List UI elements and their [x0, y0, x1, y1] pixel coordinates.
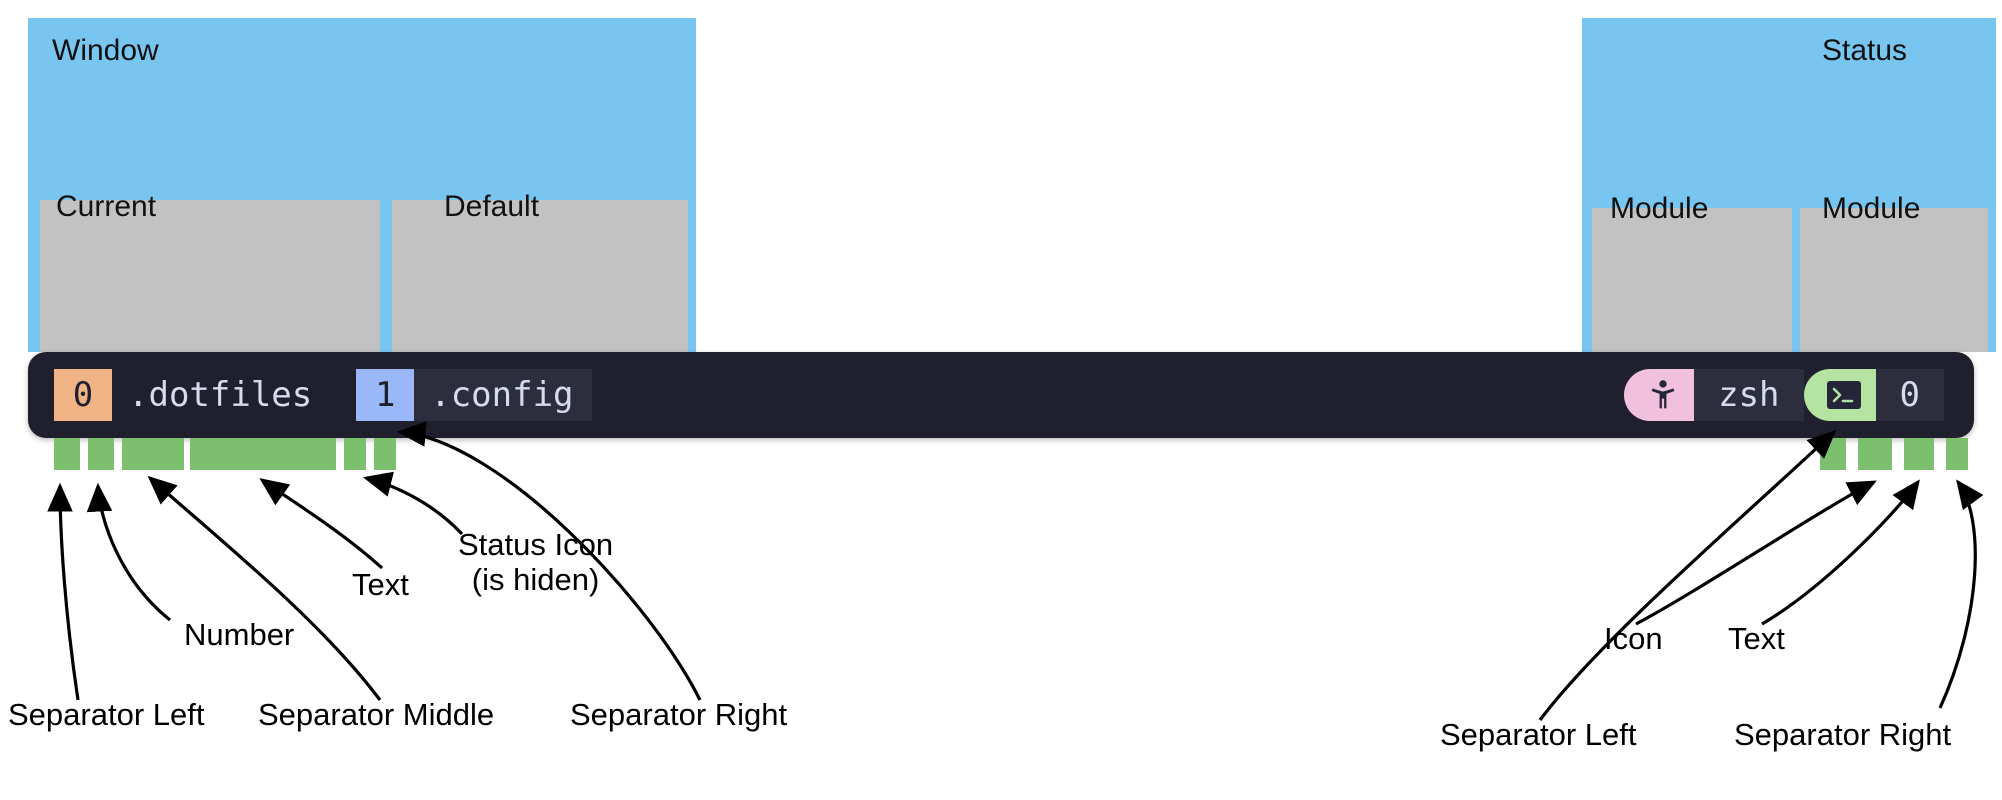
callout-status-icon: Status Icon (is hiden)	[458, 528, 613, 597]
status-module-2	[1800, 208, 1988, 352]
shell-name-text: zsh	[1694, 369, 1803, 421]
tab-1-name[interactable]: .config	[414, 369, 591, 421]
status-module-1-label: Module	[1610, 194, 1708, 224]
status-segments: zsh 0	[1624, 369, 1944, 421]
person-icon[interactable]	[1624, 369, 1694, 421]
marker-separator-right	[374, 438, 396, 470]
callout-right-separator-left: Separator Left	[1440, 718, 1636, 751]
marker-number	[88, 438, 114, 470]
callout-separator-left: Separator Left	[8, 698, 204, 731]
callout-separator-middle: Separator Middle	[258, 698, 494, 731]
marker-right-separator-left	[1820, 438, 1846, 470]
callout-right-text: Text	[1728, 622, 1785, 655]
terminal-icon[interactable]	[1804, 369, 1876, 421]
tab-gap	[330, 369, 356, 421]
status-module-1	[1592, 208, 1792, 352]
marker-status-icon	[344, 438, 366, 470]
window-panel-title: Window	[52, 36, 159, 66]
callout-right-separator-right: Separator Right	[1734, 718, 1951, 751]
tab-0-name[interactable]: .dotfiles	[112, 369, 330, 421]
callout-status-icon-line1: Status Icon	[458, 528, 613, 563]
session-count-text: 0	[1876, 369, 1944, 421]
tab-0-number[interactable]: 0	[54, 369, 112, 421]
marker-separator-middle	[122, 438, 184, 470]
callout-status-icon-line2: (is hiden)	[458, 563, 613, 598]
marker-text	[190, 438, 336, 470]
tab-list: 0 .dotfiles 1 .config	[54, 369, 592, 421]
status-bar: 0 .dotfiles 1 .config zsh 0	[28, 352, 1974, 438]
callout-separator-right: Separator Right	[570, 698, 787, 731]
marker-right-icon	[1858, 438, 1892, 470]
callout-right-icon: Icon	[1604, 622, 1663, 655]
marker-right-text	[1904, 438, 1934, 470]
callout-number: Number	[184, 618, 294, 651]
tab-1-number[interactable]: 1	[356, 369, 414, 421]
callout-text: Text	[352, 568, 409, 601]
window-module-current-label: Current	[56, 192, 156, 222]
window-module-default	[392, 200, 688, 352]
status-panel-title: Status	[1822, 36, 1907, 66]
status-module-2-label: Module	[1822, 194, 1920, 224]
marker-right-separator-right	[1946, 438, 1968, 470]
window-module-default-label: Default	[444, 192, 539, 222]
marker-separator-left	[54, 438, 80, 470]
